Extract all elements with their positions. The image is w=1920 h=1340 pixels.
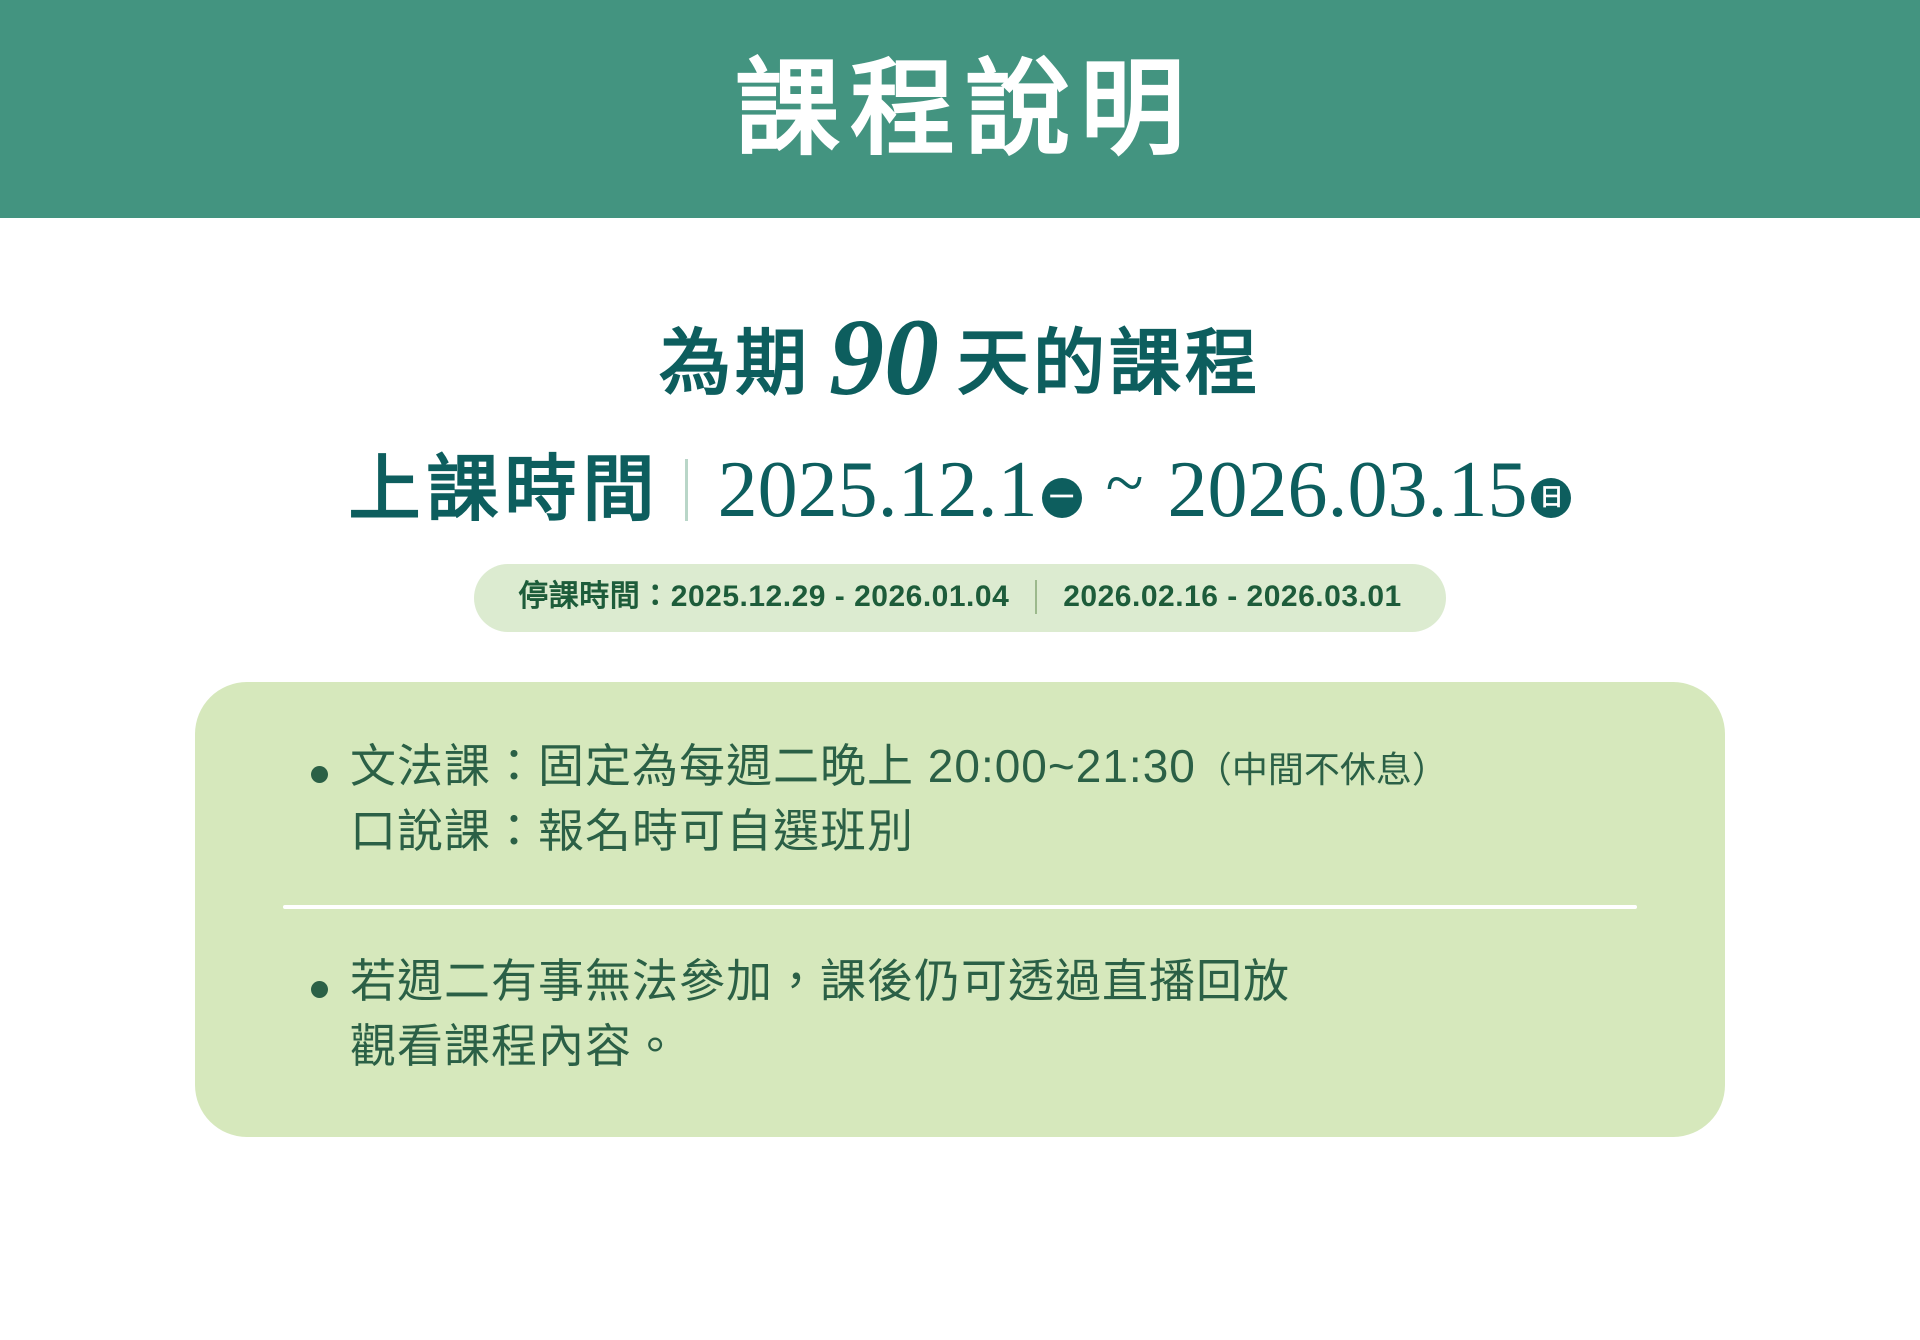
bullet-content: 若週二有事無法參加，課後仍可透過直播回放 觀看課程內容。 [350,949,1665,1080]
bullet-dot-icon [311,766,328,783]
replay-note-line-one: 若週二有事無法參加，課後仍可透過直播回放 [350,949,1665,1014]
grammar-class-line: 文法課：固定為每週二晚上 20:00~21:30（中間不休息） [350,734,1665,799]
course-info-page: 課程說明 為期 90 天的課程 上課時間 2025.12.1 一 ~ 2026.… [0,0,1920,1340]
start-date-group: 2025.12.1 一 [718,450,1082,530]
duration-days-number: 90 [811,302,957,412]
class-period-row: 上課時間 2025.12.1 一 ~ 2026.03.15 日 [0,450,1920,530]
vertical-divider [685,459,688,521]
end-date: 2026.03.15 [1167,450,1527,530]
class-period-label: 上課時間 [349,454,661,526]
replay-note-line-two: 觀看課程內容。 [350,1014,1665,1079]
duration-prefix-label: 為期 [659,328,811,400]
start-weekday-badge-icon: 一 [1042,478,1082,518]
break-period-second: 2026.02.16 - 2026.03.01 [1063,582,1401,612]
speaking-class-line: 口說課：報名時可自選班別 [350,799,1665,864]
class-period-dates: 2025.12.1 一 ~ 2026.03.15 日 [718,450,1572,530]
course-duration-heading: 為期 90 天的課程 [0,296,1920,406]
grammar-class-note: （中間不休息） [1196,749,1448,790]
header-banner: 課程說明 [0,0,1920,218]
duration-suffix-label: 天的課程 [957,328,1261,400]
bullet-content: 文法課：固定為每週二晚上 20:00~21:30（中間不休息） 口說課：報名時可… [350,734,1665,865]
end-weekday-badge-icon: 日 [1531,478,1571,518]
start-date: 2025.12.1 [718,450,1038,530]
break-period-first: 2025.12.29 - 2026.01.04 [671,582,1009,612]
end-date-group: 2026.03.15 日 [1167,450,1571,530]
break-period-pill: 停課時間： 2025.12.29 - 2026.01.04 2026.02.16… [474,564,1445,632]
card-divider [283,905,1637,909]
course-details-card: 文法課：固定為每週二晚上 20:00~21:30（中間不休息） 口說課：報名時可… [195,682,1725,1137]
bullet-dot-icon [311,981,328,998]
list-item: 若週二有事無法參加，課後仍可透過直播回放 觀看課程內容。 [255,949,1665,1080]
date-range-symbol: ~ [1082,449,1168,519]
list-item: 文法課：固定為每週二晚上 20:00~21:30（中間不休息） 口說課：報名時可… [255,734,1665,865]
break-period-label: 停課時間： [518,582,671,612]
grammar-class-text: 文法課：固定為每週二晚上 20:00~21:30 [350,740,1196,792]
pill-divider [1035,580,1037,614]
break-period-section: 停課時間： 2025.12.29 - 2026.01.04 2026.02.16… [0,564,1920,632]
page-title: 課程說明 [725,57,1195,162]
